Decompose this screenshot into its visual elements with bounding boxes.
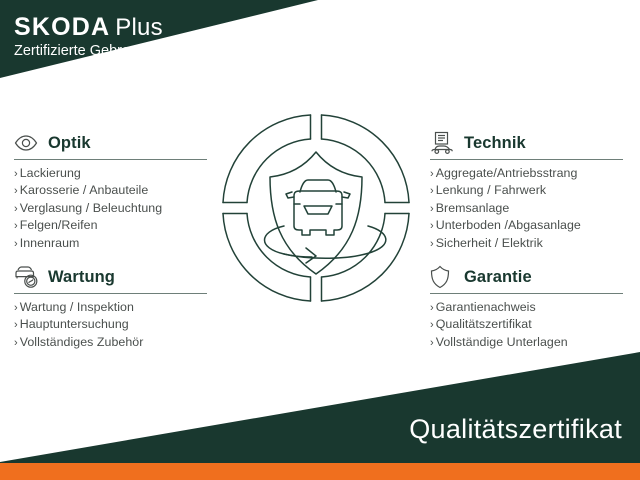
section-divider <box>430 159 623 160</box>
eye-icon <box>14 130 44 156</box>
list-item-label: Hauptuntersuchung <box>20 317 129 331</box>
car-service-clock-icon <box>14 264 44 290</box>
footer-headline: Qualitätszertifikat <box>409 414 622 445</box>
list-item[interactable]: ›Felgen/Reifen <box>14 217 210 234</box>
section-header: Wartung <box>14 264 210 290</box>
list-item[interactable]: ›Bremsanlage <box>430 200 626 217</box>
list-item[interactable]: ›Qualitätszertifikat <box>430 316 626 333</box>
chevron-right-icon: › <box>14 337 18 349</box>
list-item[interactable]: ›Karosserie / Anbauteile <box>14 182 210 199</box>
list-item-label: Sicherheit / Elektrik <box>436 236 543 250</box>
list-item[interactable]: ›Wartung / Inspektion <box>14 299 210 316</box>
chevron-right-icon: › <box>430 185 434 197</box>
shield-icon <box>430 264 460 290</box>
list-item[interactable]: ›Hauptuntersuchung <box>14 316 210 333</box>
list-item-label: Bremsanlage <box>436 201 510 215</box>
section-list: ›Wartung / Inspektion ›Hauptuntersuchung… <box>14 299 210 351</box>
chevron-right-icon: › <box>14 168 18 180</box>
section-divider <box>14 293 207 294</box>
orbit-arrow <box>265 226 386 263</box>
list-item[interactable]: ›Unterboden /Abgasanlage <box>430 217 626 234</box>
chevron-right-icon: › <box>14 238 18 250</box>
brand-logo: SKODAPlus Zertifizierte Gebrauchtwagen <box>14 14 200 60</box>
section-garantie: Garantie ›Garantienachweis ›Qualitätszer… <box>430 264 626 351</box>
chevron-right-icon: › <box>430 203 434 215</box>
section-technik: Technik ›Aggregate/Antriebsstrang ›Lenku… <box>430 130 626 252</box>
brand-suffix: Plus <box>115 14 163 41</box>
list-item-label: Lackierung <box>20 166 81 180</box>
bottom-green-wedge <box>0 340 640 480</box>
brand-tagline: Zertifizierte Gebrauchtwagen <box>14 42 200 60</box>
chevron-right-icon: › <box>430 337 434 349</box>
list-item[interactable]: ›Sicherheit / Elektrik <box>430 235 626 252</box>
chevron-right-icon: › <box>430 319 434 331</box>
chevron-right-icon: › <box>430 238 434 250</box>
emblem <box>222 104 418 316</box>
orange-accent-bar <box>0 463 640 480</box>
list-item[interactable]: ›Vollständige Unterlagen <box>430 334 626 351</box>
list-item-label: Qualitätszertifikat <box>436 317 532 331</box>
chevron-right-icon: › <box>430 168 434 180</box>
car-front-glyph <box>286 180 350 235</box>
section-header: Optik <box>14 130 210 156</box>
list-item-label: Lenkung / Fahrwerk <box>436 183 546 197</box>
list-item-label: Verglasung / Beleuchtung <box>20 201 162 215</box>
list-item[interactable]: ›Vollständiges Zubehör <box>14 334 210 351</box>
list-item[interactable]: ›Innenraum <box>14 235 210 252</box>
brand-name: SKODA <box>14 13 110 41</box>
section-title: Garantie <box>464 268 532 287</box>
chevron-right-icon: › <box>14 220 18 232</box>
list-item[interactable]: ›Lenkung / Fahrwerk <box>430 182 626 199</box>
shield-car-rings-emblem <box>222 104 418 316</box>
section-header: Garantie <box>430 264 626 290</box>
section-divider <box>430 293 623 294</box>
list-item-label: Garantienachweis <box>436 300 536 314</box>
list-item-label: Innenraum <box>20 236 80 250</box>
section-list: ›Aggregate/Antriebsstrang ›Lenkung / Fah… <box>430 165 626 252</box>
certificate-poster: SKODAPlus Zertifizierte Gebrauchtwagen <box>0 0 640 480</box>
list-item-label: Vollständige Unterlagen <box>436 335 568 349</box>
chevron-right-icon: › <box>14 185 18 197</box>
section-divider <box>14 159 207 160</box>
list-item[interactable]: ›Aggregate/Antriebsstrang <box>430 165 626 182</box>
list-item[interactable]: ›Garantienachweis <box>430 299 626 316</box>
section-title: Optik <box>48 134 91 153</box>
car-document-icon <box>430 130 460 156</box>
list-item-label: Vollständiges Zubehör <box>20 335 144 349</box>
list-item[interactable]: ›Verglasung / Beleuchtung <box>14 200 210 217</box>
chevron-right-icon: › <box>14 319 18 331</box>
chevron-right-icon: › <box>430 220 434 232</box>
brand-name-row: SKODAPlus <box>14 14 200 41</box>
list-item-label: Karosserie / Anbauteile <box>20 183 149 197</box>
chevron-right-icon: › <box>14 203 18 215</box>
chevron-right-icon: › <box>430 302 434 314</box>
section-title: Technik <box>464 134 526 153</box>
section-title: Wartung <box>48 268 115 287</box>
section-wartung: Wartung ›Wartung / Inspektion ›Hauptunte… <box>14 264 210 351</box>
list-item-label: Wartung / Inspektion <box>20 300 134 314</box>
list-item[interactable]: ›Lackierung <box>14 165 210 182</box>
section-optik: Optik ›Lackierung ›Karosserie / Anbautei… <box>14 130 210 252</box>
list-item-label: Felgen/Reifen <box>20 218 98 232</box>
section-list: ›Lackierung ›Karosserie / Anbauteile ›Ve… <box>14 165 210 252</box>
section-header: Technik <box>430 130 626 156</box>
section-list: ›Garantienachweis ›Qualitätszertifikat ›… <box>430 299 626 351</box>
chevron-right-icon: › <box>14 302 18 314</box>
list-item-label: Unterboden /Abgasanlage <box>436 218 581 232</box>
list-item-label: Aggregate/Antriebsstrang <box>436 166 578 180</box>
